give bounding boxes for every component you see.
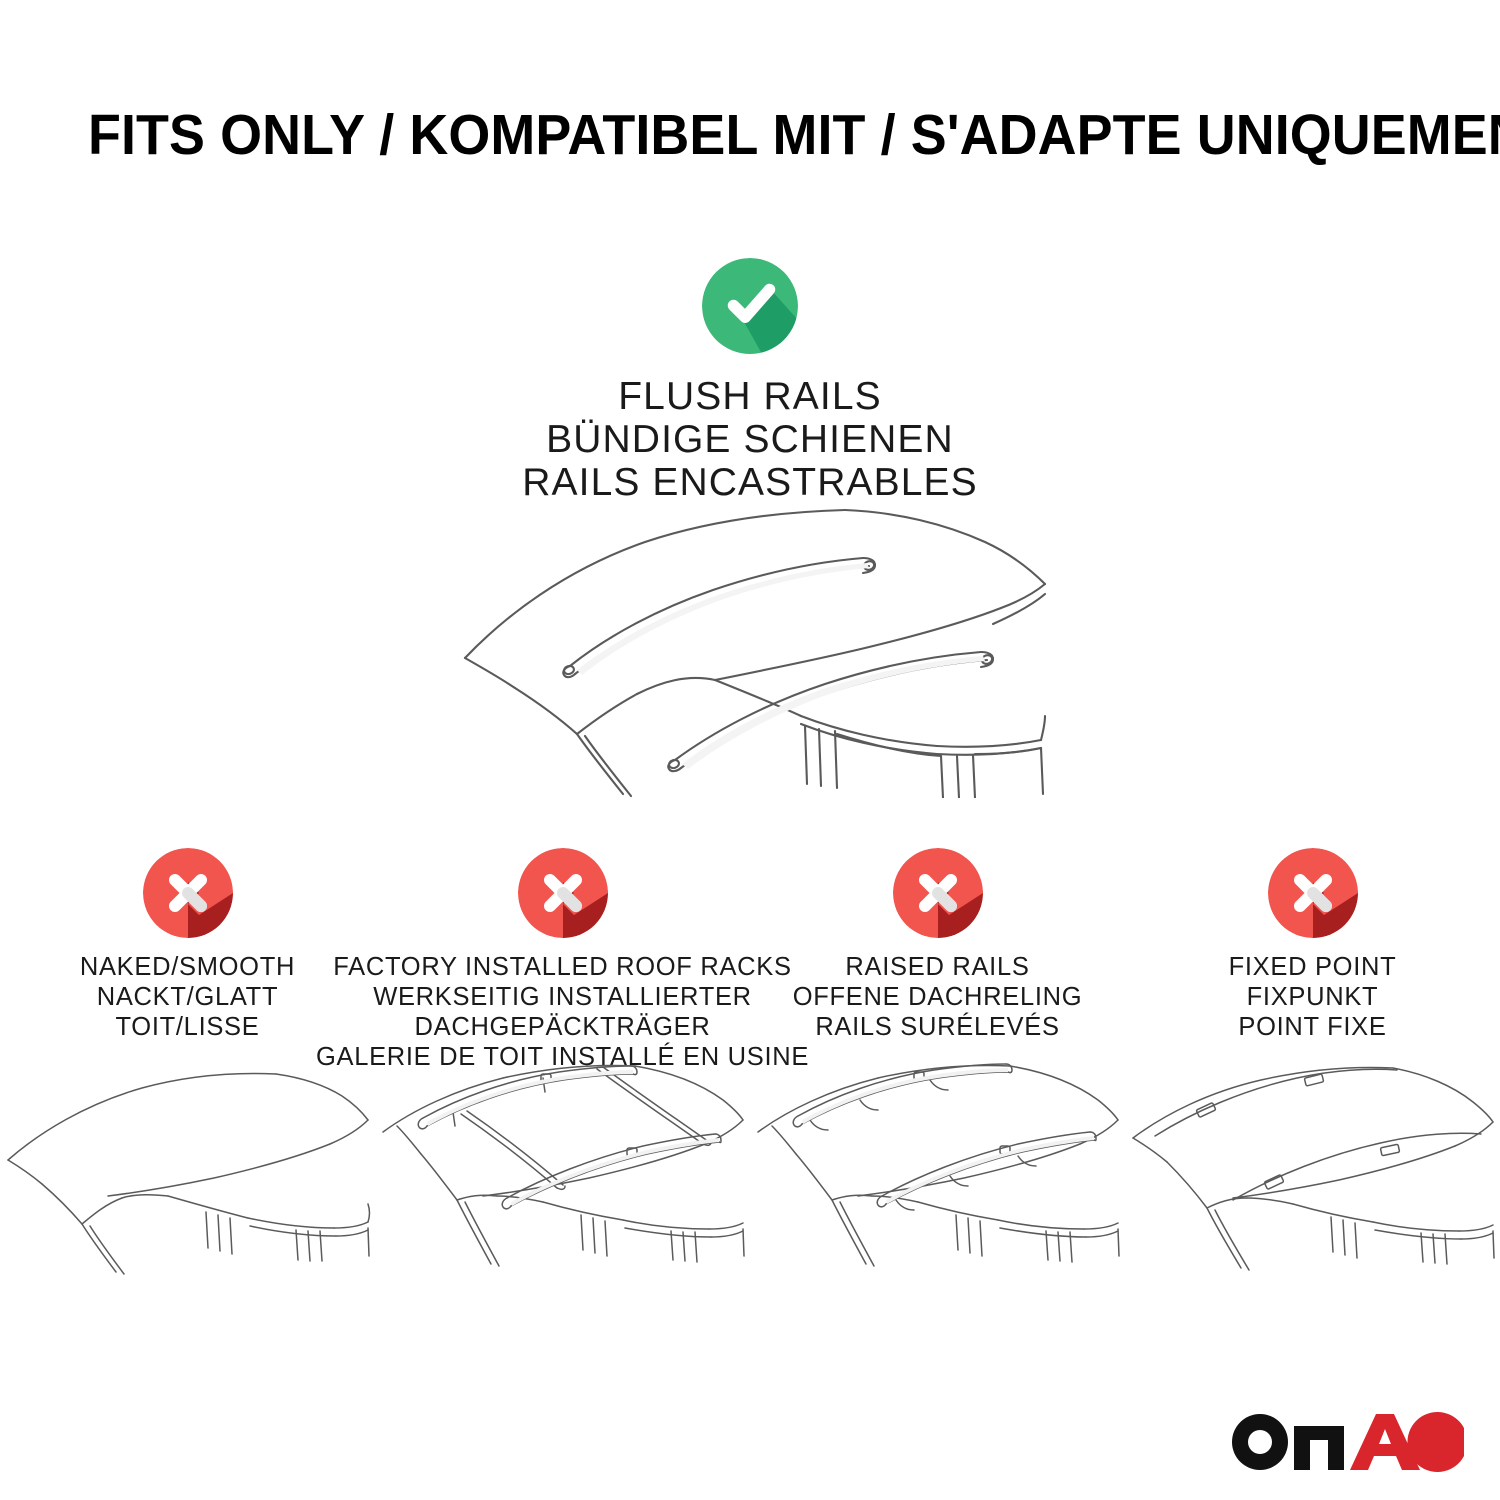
car-roof-naked-illustration (0, 1052, 375, 1277)
page-title: FITS ONLY / KOMPATIBEL MIT / S'ADAPTE UN… (88, 104, 1345, 166)
compatible-caption-line: FLUSH RAILS (0, 375, 1500, 418)
incompatible-caption: RAISED RAILS OFFENE DACHRELING RAILS SUR… (793, 952, 1083, 1042)
x-circle-icon (518, 848, 608, 938)
compatible-caption-line: BÜNDIGE SCHIENEN (0, 418, 1500, 461)
incompatible-illustrations (0, 1052, 1500, 1277)
x-circle-icon (143, 848, 233, 938)
incompatible-caption-line: TOIT/LISSE (80, 1012, 295, 1042)
incompatible-caption: NAKED/SMOOTH NACKT/GLATT TOIT/LISSE (80, 952, 295, 1042)
x-circle-icon (1268, 848, 1358, 938)
car-roof-fixed-point-illustration (1125, 1052, 1500, 1277)
incompatible-caption-line: RAISED RAILS (793, 952, 1083, 982)
car-roof-raised-rails-illustration (750, 1052, 1125, 1277)
incompatible-caption-line: FIXPUNKT (1229, 982, 1397, 1012)
check-circle-icon (702, 258, 798, 354)
compatible-caption: FLUSH RAILS BÜNDIGE SCHIENEN RAILS ENCAS… (0, 375, 1500, 504)
incompatible-caption: FIXED POINT FIXPUNKT POINT FIXE (1229, 952, 1397, 1042)
incompatible-item-factory-roof-racks: FACTORY INSTALLED ROOF RACKS WERKSEITIG … (375, 848, 750, 1072)
incompatible-item-raised-rails: RAISED RAILS OFFENE DACHRELING RAILS SUR… (750, 848, 1125, 1042)
incompatible-section: NAKED/SMOOTH NACKT/GLATT TOIT/LISSE FACT… (0, 848, 1500, 1072)
incompatible-caption-line: DACHGEPÄCKTRÄGER (316, 1012, 809, 1042)
incompatible-caption-line: NAKED/SMOOTH (80, 952, 295, 982)
incompatible-caption-line: POINT FIXE (1229, 1012, 1397, 1042)
incompatible-caption-line: NACKT/GLATT (80, 982, 295, 1012)
car-roof-flush-rails-illustration (445, 498, 1055, 798)
car-roof-factory-racks-illustration (375, 1052, 750, 1277)
incompatible-caption-line: WERKSEITIG INSTALLIERTER (316, 982, 809, 1012)
compatible-section: FLUSH RAILS BÜNDIGE SCHIENEN RAILS ENCAS… (0, 258, 1500, 504)
incompatible-item-fixed-point: FIXED POINT FIXPUNKT POINT FIXE (1125, 848, 1500, 1042)
incompatible-caption-line: RAILS SURÉLEVÉS (793, 1012, 1083, 1042)
incompatible-caption-line: FACTORY INSTALLED ROOF RACKS (316, 952, 809, 982)
incompatible-caption-line: FIXED POINT (1229, 952, 1397, 982)
header-bar: FITS ONLY / KOMPATIBEL MIT / S'ADAPTE UN… (88, 104, 1418, 168)
omac-logo (1228, 1408, 1464, 1476)
incompatible-caption-line: OFFENE DACHRELING (793, 982, 1083, 1012)
x-circle-icon (893, 848, 983, 938)
